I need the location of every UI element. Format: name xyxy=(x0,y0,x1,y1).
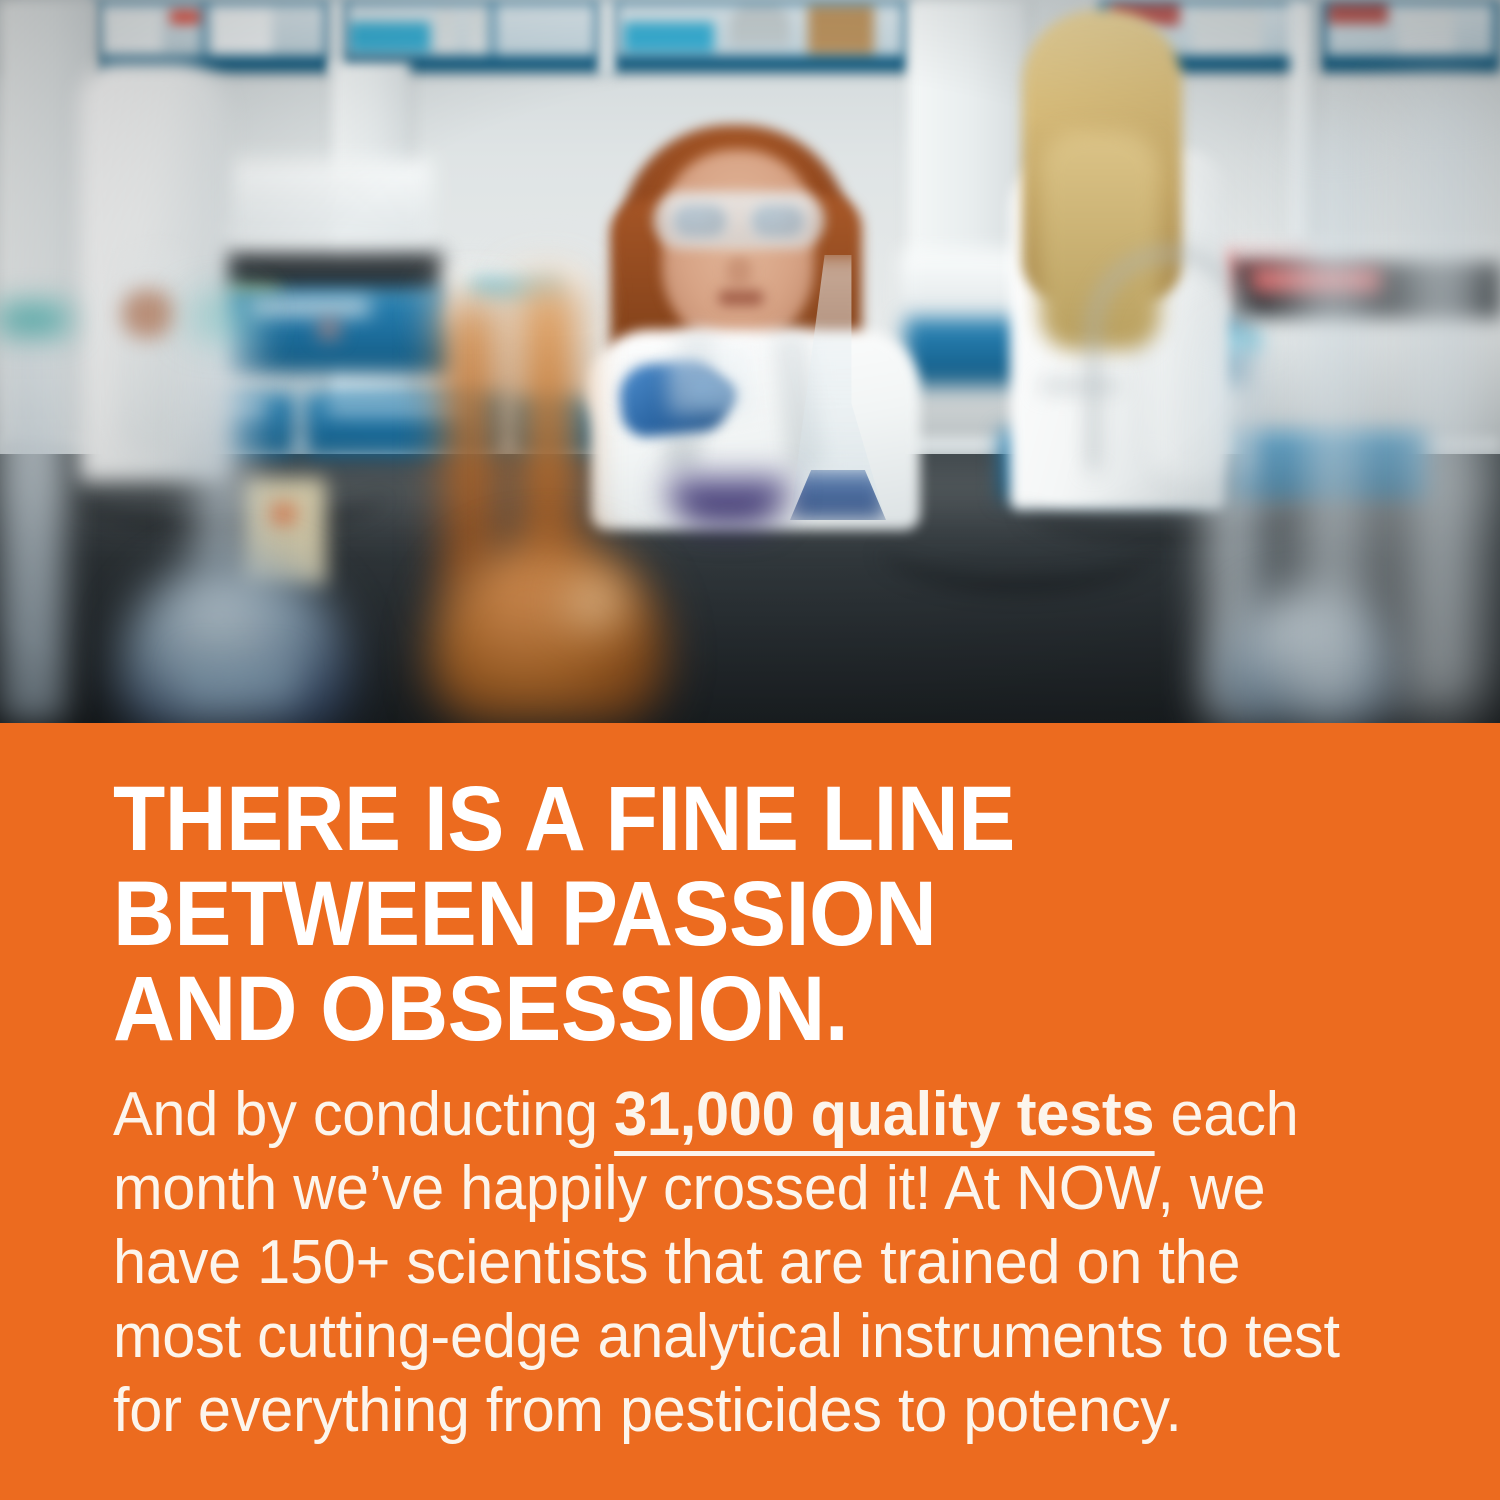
body-copy-intro: And by conducting xyxy=(113,1080,614,1149)
laboratory-photo: 500 xyxy=(0,0,1500,723)
quality-tests-highlight: 31,000 quality tests xyxy=(614,1080,1154,1156)
body-copy: And by conducting 31,000 quality tests e… xyxy=(113,1078,1351,1448)
page-headline: THERE IS A FINE LINE BETWEEN PASSION AND… xyxy=(113,772,1322,1057)
promotional-poster: 500 THERE IS A FINE LINE BETWEEN PASSION… xyxy=(0,0,1500,1500)
photo-vignette xyxy=(0,0,1500,723)
